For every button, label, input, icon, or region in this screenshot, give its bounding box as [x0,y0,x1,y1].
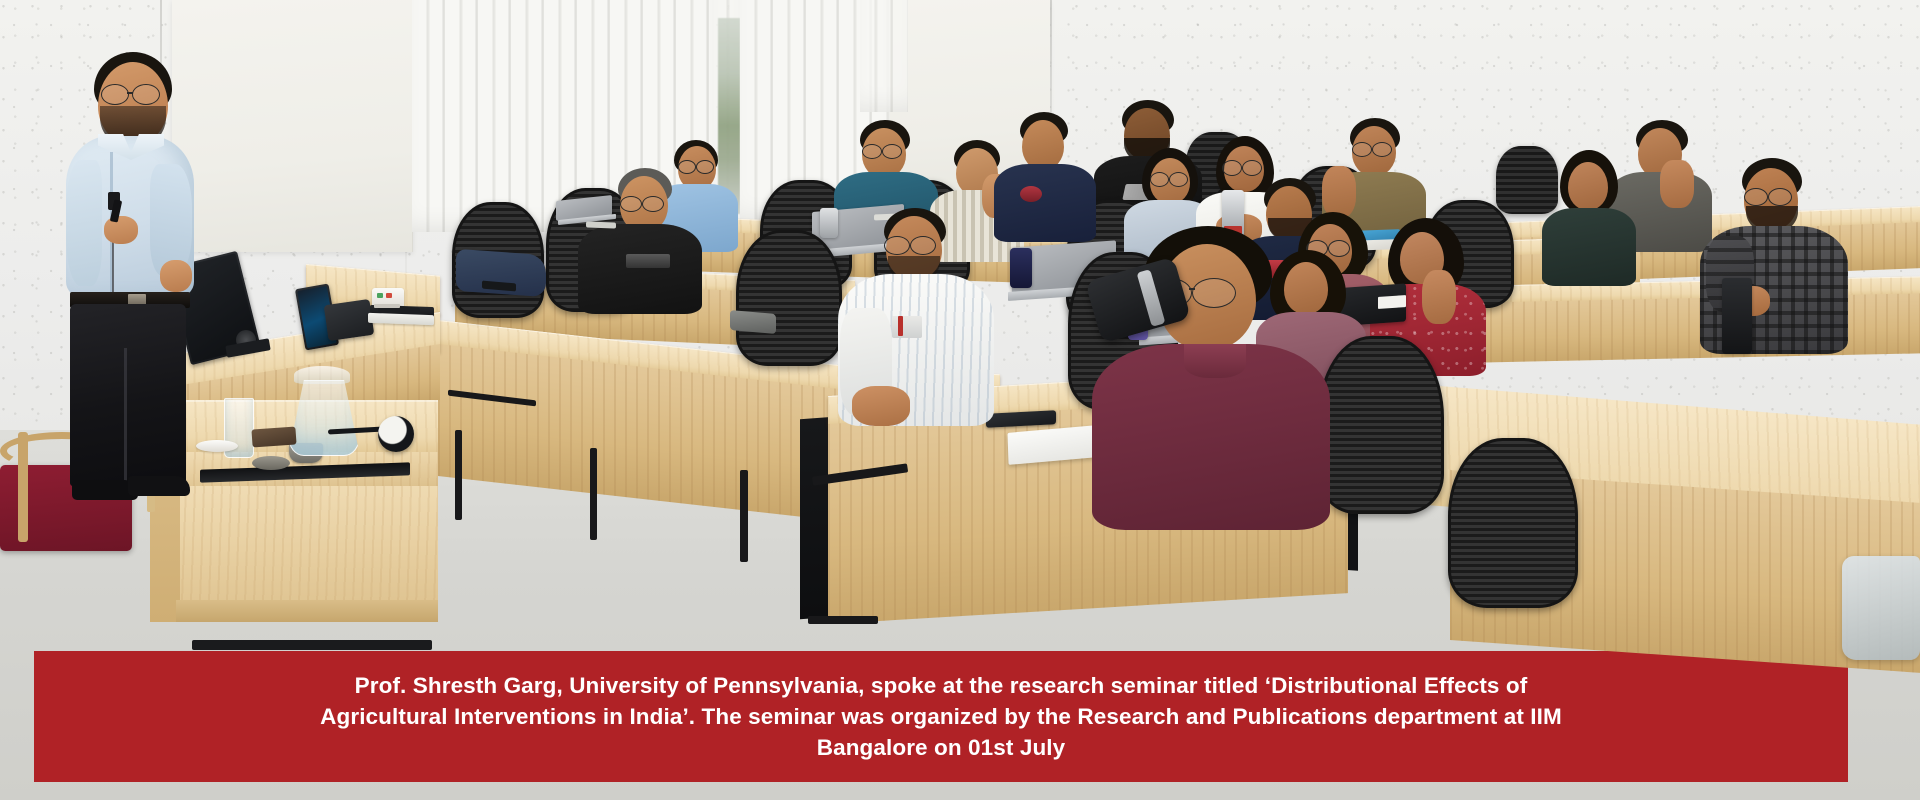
arm-hand-to-chin [1660,160,1694,208]
desk-leg [590,448,597,540]
desk-leg [455,430,462,520]
eyeglasses-right-lens [1192,278,1236,308]
torso-black-tshirt [578,224,702,314]
paper-slip [586,221,616,228]
eyeglasses-left-lens [620,196,642,212]
presenter-right-hand [160,260,192,292]
podium-speaker-box [324,299,375,341]
microphone-head [378,416,414,452]
chair-leg-wood [18,432,28,542]
polo-collar [1184,344,1246,378]
chair-row2-a [736,230,842,366]
presenter-shoe-right [128,476,190,496]
leather-pouch [251,426,296,447]
eyeglasses-left-lens [884,236,910,255]
podium-lower-slot [192,640,432,650]
eyeglasses-bridge [1189,288,1195,290]
audience-member-black-tee [578,168,706,308]
chair-base [808,616,878,624]
presenter-left-hand [104,216,138,244]
black-water-bottle [1722,278,1752,354]
presenter [44,48,214,478]
audience-member-white-shirt-front [838,208,996,428]
caption-banner: Prof. Shresth Garg, University of Pennsy… [34,651,1848,782]
presenter-left-arm [66,160,102,286]
audience-member-woman-far-right [1542,150,1638,290]
shirt-pocket [892,316,922,338]
desk-grommet-cover [730,310,776,334]
eyeglasses-right-lens [132,84,160,105]
audience-member-maroon-polo-front [1092,226,1338,530]
torso-navy-polo [994,164,1096,242]
eyeglasses-left-lens [101,84,129,105]
pocket-pen [898,316,903,336]
eyeglasses-right-lens [1169,172,1188,187]
tshirt-graphic [626,254,670,268]
seminar-photo: Prof. Shresth Garg, University of Pennsy… [0,0,1920,800]
caption-text: Prof. Shresth Garg, University of Pennsy… [319,670,1564,763]
eyeglasses-right-lens [882,144,902,159]
eyeglasses-left-lens [862,144,882,159]
eyeglasses-left-lens [1222,160,1242,176]
audience-member-navy-polo [994,112,1098,234]
eyeglasses-right-lens [642,196,664,212]
clasped-hands [852,386,910,426]
head [1022,120,1064,170]
eyeglasses-right-lens [1768,188,1792,206]
torso-dark-green-top [1542,208,1636,286]
desk-leg [740,470,748,562]
eyeglasses-left-lens [1352,142,1372,157]
presenter-trousers [70,304,186,486]
control-panel-led-green [377,293,383,298]
steel-tumbler [820,208,838,238]
trouser-crease [124,348,127,486]
head [1568,162,1608,210]
navy-water-bottle [1010,248,1032,288]
eyeglasses-right-lens [1242,160,1262,176]
eyeglasses-right-lens [910,236,936,255]
chair-front-right-b [1448,438,1578,608]
podium-knob [252,456,290,470]
eyeglasses-left-lens [1150,172,1169,187]
tablet-label [1378,295,1406,309]
window-blinds-mid-upper [860,0,908,112]
arm-chin-rest [1422,270,1456,324]
control-panel-strip [374,304,400,308]
control-panel-led-red [386,293,392,298]
plastic-bag [1842,556,1920,660]
eyeglasses-left-lens [1744,188,1768,206]
podium-base-kick [176,600,438,622]
eyeglasses-right-lens [1372,142,1392,157]
eyeglasses-bridge [127,92,133,94]
polo-logo-badge [1020,186,1042,202]
